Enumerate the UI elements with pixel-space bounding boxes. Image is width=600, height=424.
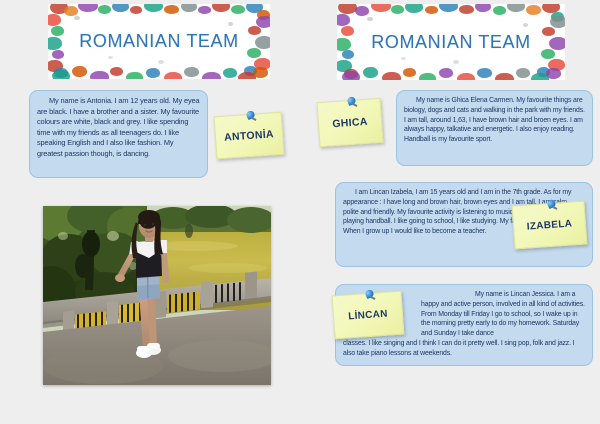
- pushpin-icon: [363, 288, 376, 301]
- banner-right: ROMANIAN TEAM: [337, 4, 565, 80]
- pushpin-icon: [545, 198, 558, 211]
- bio-text-lincan-part2: classes. I like singing and I think I ca…: [343, 339, 585, 359]
- sticky-note-lincan-label: LİNCAN: [348, 308, 388, 322]
- sticky-note-antonia[interactable]: ANTONİA: [214, 112, 285, 160]
- pushpin-icon: [345, 95, 358, 108]
- sticky-note-ghica-label: GHICA: [332, 115, 368, 129]
- bio-text-antonia: My name is Antonia. I am 12 years old. M…: [37, 96, 200, 159]
- sticky-note-izabela[interactable]: IZABELA: [512, 201, 588, 250]
- poster-page: ROMANIAN TEAM: [0, 0, 600, 424]
- banner-left: ROMANIAN TEAM: [48, 4, 270, 79]
- sticky-note-ghica[interactable]: GHICA: [317, 98, 384, 147]
- banner-left-title: ROMANIAN TEAM: [79, 31, 238, 52]
- bio-bubble-ghica: My name is Ghica Elena Carmen. My favour…: [396, 90, 593, 166]
- antonia-photo: [43, 206, 271, 385]
- bio-text-ghica: My name is Ghica Elena Carmen. My favour…: [404, 96, 585, 145]
- bio-bubble-antonia: My name is Antonia. I am 12 years old. M…: [29, 90, 208, 178]
- pushpin-icon: [244, 109, 257, 122]
- photo-illustration: [43, 206, 271, 385]
- sticky-note-izabela-label: IZABELA: [526, 218, 572, 232]
- sticky-note-lincan[interactable]: LİNCAN: [332, 291, 405, 340]
- sticky-note-antonia-label: ANTONİA: [224, 128, 274, 143]
- banner-right-title: ROMANIAN TEAM: [371, 32, 530, 53]
